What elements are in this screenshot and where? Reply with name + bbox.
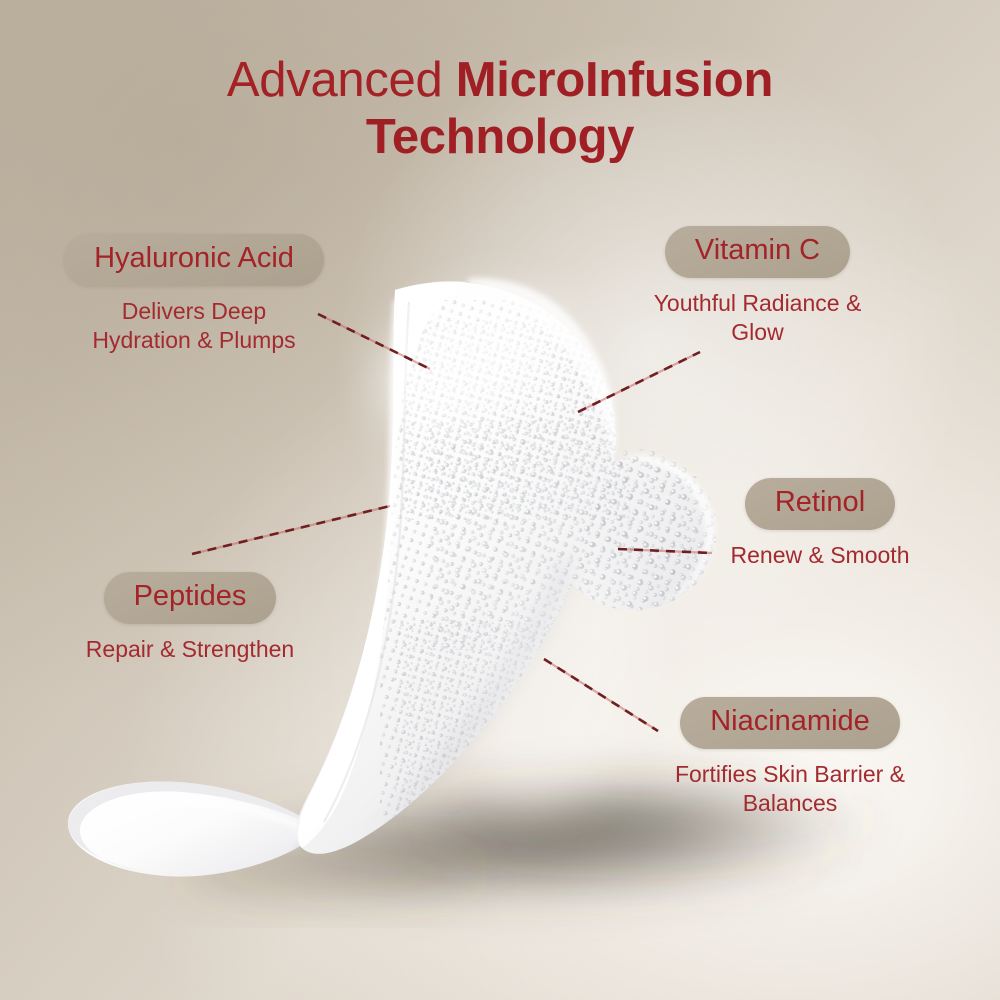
description-retinol: Renew & Smooth [700,541,940,570]
callout-peptides[interactable]: Peptides Repair & Strengthen [55,572,325,664]
description-vitamin-c: Youthful Radiance & Glow [620,289,895,348]
page-title: Advanced MicroInfusion Technology [0,52,1000,166]
title-line-2: Technology [0,109,1000,166]
title-word-microinfusion: MicroInfusion [456,53,773,107]
callout-niacinamide[interactable]: Niacinamide Fortifies Skin Barrier & Bal… [640,697,940,819]
description-niacinamide: Fortifies Skin Barrier & Balances [640,760,940,819]
callout-hyaluronic-acid[interactable]: Hyaluronic Acid Delivers Deep Hydration … [34,234,354,356]
pill-label-peptides[interactable]: Peptides [104,572,277,624]
title-line-1: Advanced MicroInfusion [0,52,1000,109]
infographic-canvas: Advanced MicroInfusion Technology Hyalur… [0,0,1000,1000]
callout-retinol[interactable]: Retinol Renew & Smooth [700,478,940,570]
description-hyaluronic-acid: Delivers Deep Hydration & Plumps [34,297,354,356]
callout-vitamin-c[interactable]: Vitamin C Youthful Radiance & Glow [620,226,895,348]
pill-label-hyaluronic-acid[interactable]: Hyaluronic Acid [64,234,324,286]
pill-label-vitamin-c[interactable]: Vitamin C [665,226,850,278]
description-peptides: Repair & Strengthen [55,635,325,664]
pill-label-retinol[interactable]: Retinol [745,478,895,530]
title-word-advanced: Advanced [227,53,456,107]
pill-label-niacinamide[interactable]: Niacinamide [680,697,900,749]
